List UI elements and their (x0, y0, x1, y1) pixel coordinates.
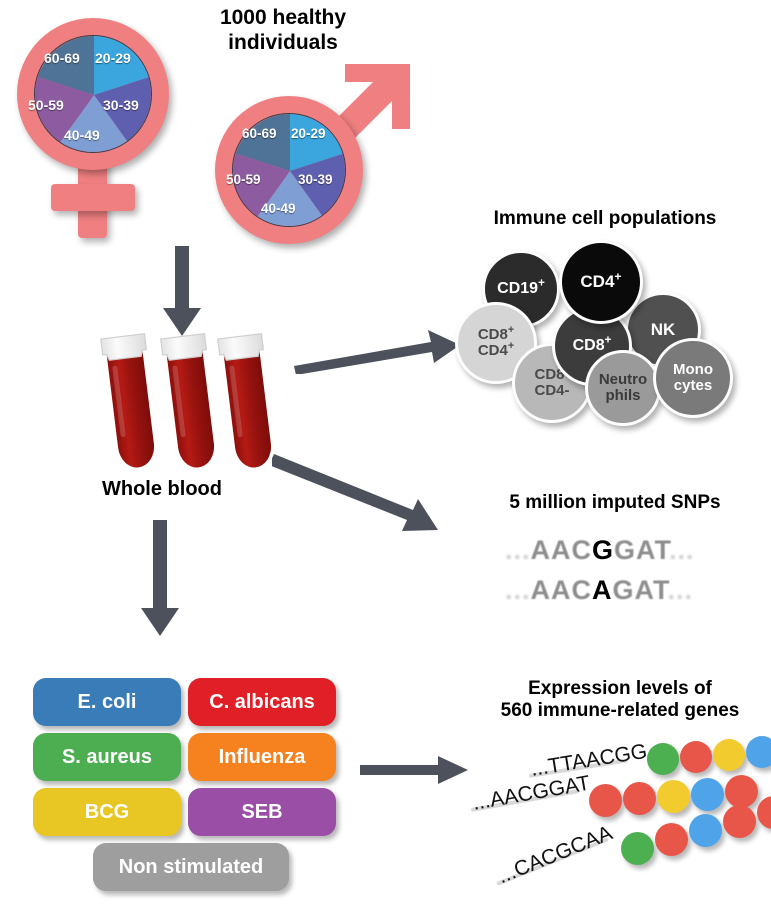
blood-tube-1 (101, 334, 161, 470)
expression-strand-2-bead-2 (623, 782, 656, 815)
cohort-heading: 1000 healthy individuals (178, 6, 388, 56)
immune-cell-neutrophils-label: Neutrophils (599, 372, 647, 403)
expression-strand-1-bead-1 (647, 743, 679, 775)
expression-strand-2-sequence: ...AACGGAT (471, 772, 592, 816)
blood-tube-2 (161, 334, 221, 470)
arrow-blood-to-immune (292, 328, 462, 374)
immune-cell-neutrophils: Neutrophils (585, 350, 661, 426)
arrow-blood-to-immune-svg (292, 328, 462, 374)
snps-heading: 5 million imputed SNPs (470, 492, 760, 514)
expression-strand-1-bead-2 (680, 741, 712, 773)
immune-cell-cluster: CD19+ CD4+ CD8+CD4+ CD8+ NK CD8-CD4- Neu… (455, 240, 755, 420)
snp-allele-2-prefix: AAC (531, 575, 593, 605)
immune-cell-cd4: CD4+ (559, 240, 643, 324)
snp-allele-1-prefix-ellipsis: ... (505, 535, 531, 565)
female-slice-label-20-29: 20-29 (95, 50, 131, 66)
snp-allele-1: ...AACGGAT... (505, 535, 695, 566)
immune-cell-cd19-label: CD19+ (497, 281, 545, 298)
stimulus-e-coli[interactable]: E. coli (33, 678, 181, 726)
expression-heading-line1: Expression levels of (472, 678, 768, 700)
arrow-blood-to-stimuli (140, 520, 180, 638)
immune-heading: Immune cell populations (455, 208, 755, 230)
snp-allele-1-variant: G (592, 535, 614, 565)
blood-tubes-svg (95, 330, 285, 480)
stimulus-seb[interactable]: SEB (188, 788, 336, 836)
male-symbol: 20-29 30-39 40-49 50-59 60-69 (205, 60, 420, 250)
female-slice-label-40-49: 40-49 (64, 127, 100, 143)
expression-strand-3-sequence: ...CACGCAA (495, 821, 617, 889)
snp-allele-2: ...AACAGAT... (505, 575, 693, 606)
arrow-cohort-to-blood (162, 246, 202, 338)
expression-strand-3-bead-2 (655, 823, 688, 856)
expression-strand-1-bead-4 (746, 736, 771, 768)
expression-strand-2-bead-1 (589, 784, 622, 817)
stimuli-panel: E. coli C. albicans S. aureus Influenza … (33, 678, 343, 893)
male-slice-label-60-69: 60-69 (242, 126, 277, 141)
snp-allele-1-suffix: GAT (614, 535, 669, 565)
snp-allele-2-suffix: GAT (613, 575, 668, 605)
expression-strand-2-bead-5 (725, 775, 758, 808)
expression-strands: ...TTAACGG ...AACGGAT ...CACGCAA (455, 730, 771, 910)
expression-heading-line2: 560 immune-related genes (472, 700, 768, 722)
expression-strand-3: ...CACGCAA (495, 818, 771, 898)
female-symbol: 20-29 30-39 40-49 50-59 60-69 (6, 10, 186, 240)
immune-cell-nk-label: NK (651, 321, 676, 339)
expression-strand-3-bead-1 (621, 832, 654, 865)
expression-heading: Expression levels of 560 immune-related … (472, 678, 768, 723)
immune-cell-cd4-label: CD4+ (580, 273, 621, 291)
arrow-blood-to-snps-svg (272, 452, 452, 538)
arrow-blood-to-snps (272, 452, 452, 538)
study-design-figure: 1000 healthy individuals 20-29 30-39 40-… (0, 0, 771, 922)
snp-allele-1-prefix: AAC (531, 535, 593, 565)
arrow-stimuli-to-expression (360, 756, 470, 786)
male-slice-label-50-59: 50-59 (226, 172, 261, 187)
stimulus-non-stimulated[interactable]: Non stimulated (93, 843, 289, 891)
male-slice-label-20-29: 20-29 (291, 126, 326, 141)
whole-blood-label: Whole blood (82, 478, 242, 502)
expression-strand-1-bead-3 (713, 739, 745, 771)
male-slice-label-30-39: 30-39 (298, 172, 333, 187)
arrow-cohort-to-blood-svg (162, 246, 202, 338)
immune-cell-cd8pos-cd4pos-label: CD8+CD4+ (478, 327, 514, 358)
stimulus-c-albicans[interactable]: C. albicans (188, 678, 336, 726)
snp-allele-1-suffix-ellipsis: ... (669, 535, 695, 565)
expression-strand-3-bead-3 (689, 814, 722, 847)
expression-strand-3-bead-5 (757, 796, 771, 829)
expression-strand-3-bead-4 (723, 805, 756, 838)
blood-tube-3 (218, 334, 278, 470)
female-slice-label-50-59: 50-59 (28, 97, 64, 113)
immune-cell-monocytes: Monocytes (653, 338, 733, 418)
male-slice-label-40-49: 40-49 (261, 201, 296, 216)
snp-allele-2-variant: A (592, 575, 613, 605)
stimulus-s-aureus[interactable]: S. aureus (33, 733, 181, 781)
blood-tubes (95, 330, 285, 480)
snp-allele-2-prefix-ellipsis: ... (505, 575, 531, 605)
expression-strand-2-bead-3 (657, 780, 690, 813)
immune-cell-cd8-label: CD8+ (573, 338, 612, 355)
arrow-stimuli-to-expression-svg (360, 756, 470, 786)
immune-cell-monocytes-label: Monocytes (673, 362, 713, 393)
female-slice-label-60-69: 60-69 (44, 50, 80, 66)
cohort-heading-line2: individuals (178, 31, 388, 56)
stimulus-influenza[interactable]: Influenza (188, 733, 336, 781)
expression-strand-1-sequence: ...TTAACGG (529, 740, 649, 782)
snp-allele-2-suffix-ellipsis: ... (668, 575, 694, 605)
stimulus-bcg[interactable]: BCG (33, 788, 181, 836)
cohort-heading-line1: 1000 healthy (178, 6, 388, 31)
female-crossbar (51, 184, 135, 211)
expression-strand-2-bead-4 (691, 778, 724, 811)
female-slice-label-30-39: 30-39 (103, 97, 139, 113)
arrow-blood-to-stimuli-svg (140, 520, 180, 638)
